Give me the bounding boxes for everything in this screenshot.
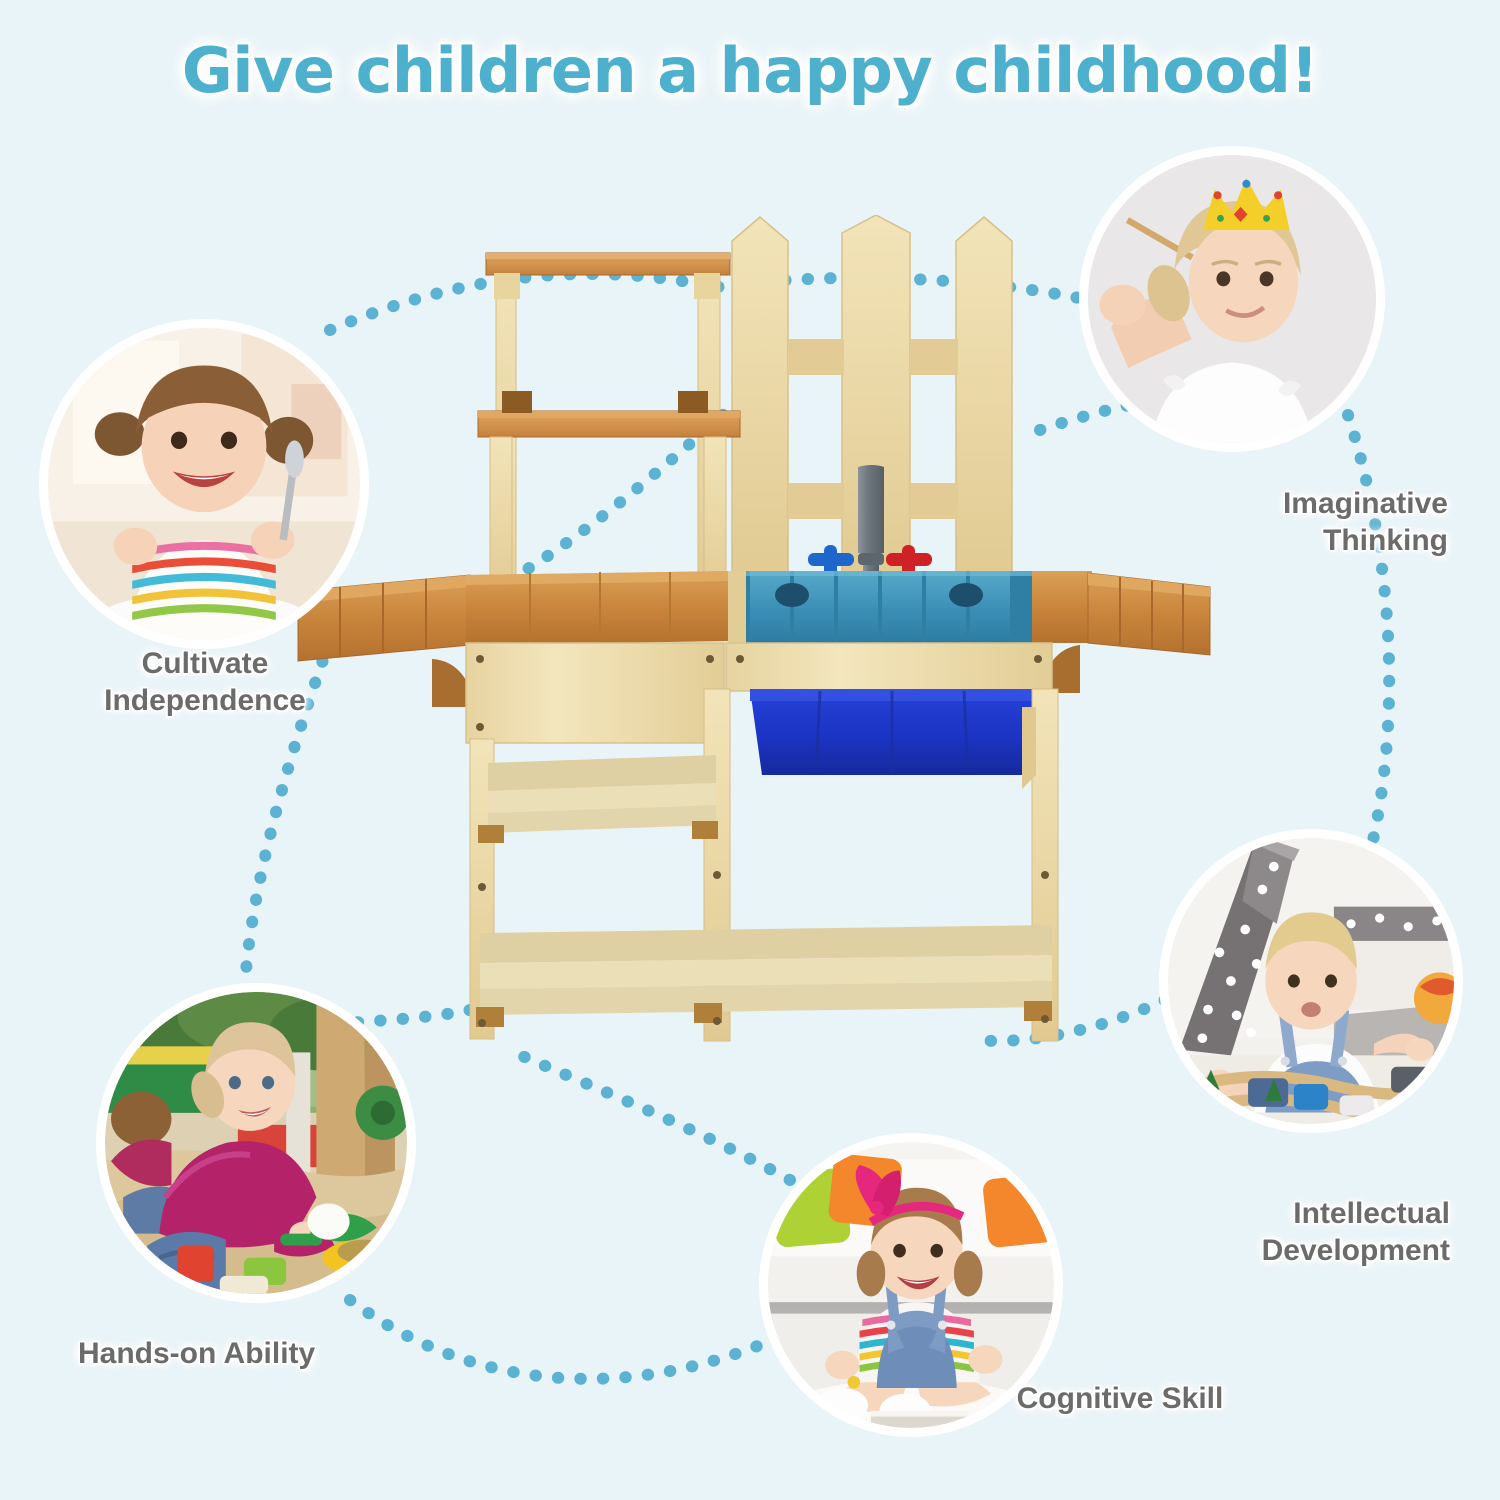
middle-shelf xyxy=(478,755,718,843)
feature-photo-intellectual-development xyxy=(1168,838,1454,1124)
caption-line-2: Independence xyxy=(20,682,390,719)
caption-cultivate-independence: Cultivate Independence xyxy=(20,645,390,719)
photo-girl-with-crown xyxy=(1088,155,1376,443)
bottom-shelf xyxy=(476,925,1052,1027)
photo-girl-in-sandbox xyxy=(105,992,407,1294)
caption-line-1: Cognitive Skill xyxy=(920,1380,1320,1417)
caption-intellectual-development: Intellectual Development xyxy=(1060,1195,1450,1269)
caption-line-1: Cultivate xyxy=(20,645,390,682)
product-image-mud-kitchen xyxy=(280,215,1220,1045)
caption-line-1: Hands-on Ability xyxy=(78,1335,498,1372)
dot-path-imaginative-to-intellectual xyxy=(1348,415,1389,845)
caption-line-1: Intellectual xyxy=(1060,1195,1450,1232)
caption-line-2: Development xyxy=(1060,1232,1450,1269)
feature-photo-hands-on-ability xyxy=(105,992,407,1294)
feature-photo-cultivate-independence xyxy=(48,328,360,640)
caption-line-2: Thinking xyxy=(1100,522,1448,559)
caption-hands-on-ability: Hands-on Ability xyxy=(78,1335,498,1372)
feature-photo-imaginative-thinking xyxy=(1088,155,1376,443)
dot-path-cognitive-to-product xyxy=(520,1055,790,1180)
photo-girl-eating-vegetables xyxy=(48,328,360,640)
caption-imaginative-thinking: Imaginative Thinking xyxy=(1100,485,1448,559)
caption-cognitive-skill: Cognitive Skill xyxy=(920,1380,1320,1417)
storage-bin xyxy=(750,689,1034,775)
photo-boy-with-train-set xyxy=(1168,838,1454,1124)
blue-sink-slats xyxy=(746,571,1036,645)
caption-line-1: Imaginative xyxy=(1100,485,1448,522)
infographic-canvas: Give children a happy childhood! xyxy=(0,0,1500,1500)
